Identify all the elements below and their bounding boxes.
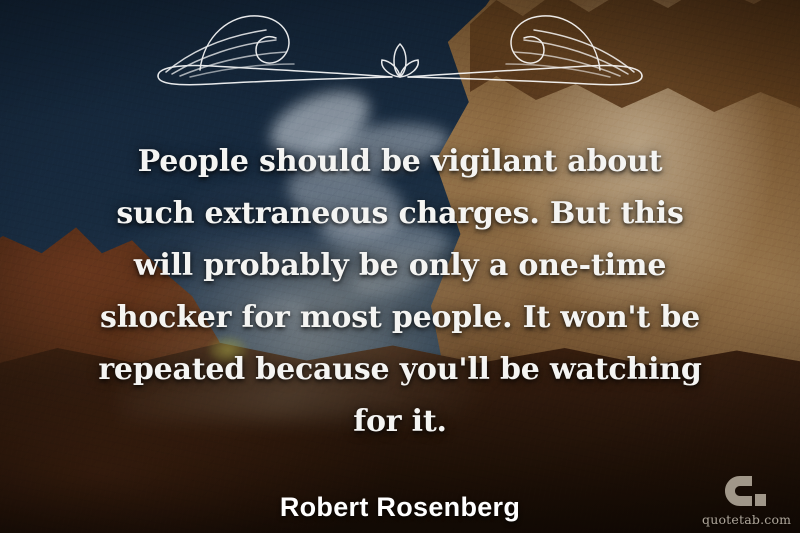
flourish-divider-icon xyxy=(80,6,720,90)
quote-text: People should be vigilant about such ext… xyxy=(95,136,705,448)
card-content: People should be vigilant about such ext… xyxy=(0,0,800,533)
site-watermark[interactable]: quotetab.com xyxy=(702,472,788,527)
quote-image-card: People should be vigilant about such ext… xyxy=(0,0,800,533)
watermark-site-label: quotetab.com xyxy=(702,512,788,527)
quotetab-q-logo-icon xyxy=(722,472,768,510)
author-name: Robert Rosenberg xyxy=(0,492,800,523)
